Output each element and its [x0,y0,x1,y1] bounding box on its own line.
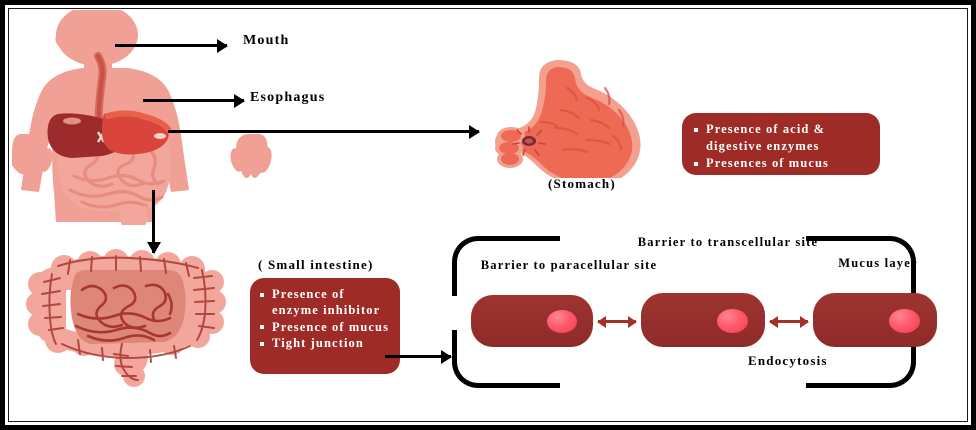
stomach-barrier-item: Presences of mucus [692,155,870,172]
label-transcellular-barrier: Barrier to transcellular site [630,234,826,250]
cell-nucleus-icon [717,309,748,333]
intestine-barrier-box: Presence of enzyme inhibitor Presence of… [250,278,400,374]
label-mouth: Mouth [243,33,289,49]
arrow-to-mouth [115,44,227,47]
arrow-to-cell-panel [385,355,451,358]
figure-canvas: Mouth Esophagus [0,0,976,430]
intestine-barrier-item: Tight junction [258,335,392,351]
cell-nucleus-icon [547,310,577,333]
label-small-intestine: ( Small intestine) [258,257,373,273]
intestine-barrier-list: Presence of enzyme inhibitor Presence of… [258,286,392,351]
arrow-to-esophagus [143,99,244,102]
label-stomach: (Stomach) [548,176,616,192]
transcellular-transport-arrow [770,320,808,323]
label-esophagus: Esophagus [250,90,325,106]
stomach-barrier-box: Presence of acid & digestive enzymes Pre… [682,113,880,175]
cell-nucleus-icon [889,309,920,333]
epithelial-cell-icon [641,293,765,347]
intestine-organ-icon [22,248,232,388]
label-paracellular-barrier: Barrier to paracellular site [474,257,664,273]
epithelial-cell-icon [813,293,937,347]
stomach-barrier-list: Presence of acid & digestive enzymes Pre… [692,121,870,172]
intestine-barrier-item: Presence of mucus [258,319,392,335]
label-endocytosis: Endocytosis [748,353,828,369]
paracellular-transport-arrow [598,320,636,323]
stomach-organ-icon [495,58,665,178]
stomach-barrier-item: Presence of acid & digestive enzymes [692,121,870,155]
arrow-to-small-intestine [152,190,155,253]
intestine-barrier-item: Presence of enzyme inhibitor [258,286,392,319]
label-mucus-layer: Mucus layer [818,256,938,271]
epithelial-cell-icon [471,295,593,347]
arrow-to-stomach-figure [168,130,479,133]
